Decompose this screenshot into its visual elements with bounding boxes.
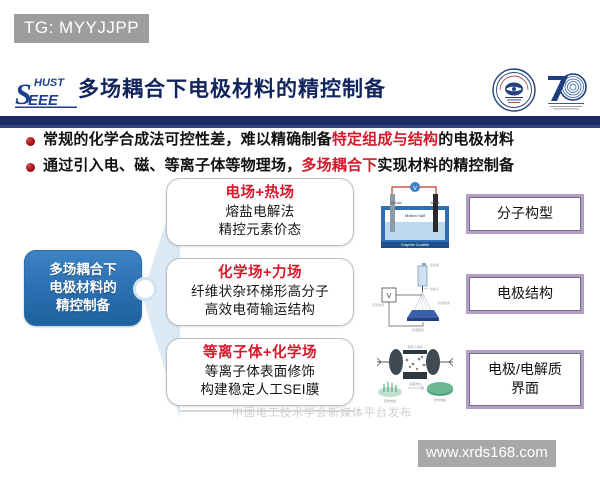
svg-text:Graphite Crucible: Graphite Crucible bbox=[401, 243, 429, 247]
svg-text:EEE: EEE bbox=[28, 92, 59, 108]
root-connector-knob bbox=[133, 277, 157, 301]
svg-text:接收装置: 接收装置 bbox=[412, 327, 424, 332]
svg-text:原始电极: 原始电极 bbox=[384, 398, 396, 403]
branch-1-line-2: 精控元素价态 bbox=[167, 221, 353, 239]
telegram-watermark: TG: MYYJJPP bbox=[14, 14, 149, 43]
branch-3-heading: 等离子体+化学场 bbox=[167, 344, 353, 363]
result-1-label: 分子构型 bbox=[497, 205, 553, 221]
result-3-label-line-1: 电极/电解质 bbox=[469, 360, 581, 379]
page-title: 多场耦合下电极材料的精控制备 bbox=[78, 73, 386, 103]
bullet-segment-2: 的电极材料 bbox=[438, 131, 514, 148]
svg-text:Molten Salt: Molten Salt bbox=[405, 213, 426, 218]
slide-canvas: TG: MYYJJPP S HUST EEE 多场耦合下电极材料的精控制备 bbox=[0, 0, 600, 480]
bullet-item: 常规的化学合成法可控性差，难以精确制备特定组成与结构的电极材料 bbox=[26, 130, 586, 150]
result-box-3: 电极/电解质 界面 bbox=[466, 350, 584, 409]
branch-box-2: 化学场+力场 纤维状杂环梯形高分子 高效电荷输运结构 bbox=[166, 258, 354, 326]
result-box-1: 分子构型 bbox=[466, 194, 584, 234]
branch-1-line-1: 熔盐电解法 bbox=[167, 203, 353, 221]
root-line-3: 精控制备 bbox=[56, 297, 110, 315]
svg-text:Cathode: Cathode bbox=[390, 201, 402, 205]
university-seal-icon bbox=[492, 68, 536, 112]
root-line-2: 电极材料的 bbox=[49, 279, 117, 297]
svg-text:修饰电极: 修饰电极 bbox=[434, 397, 446, 402]
header-logo-group bbox=[492, 66, 590, 114]
branch-2-line-2: 高效电荷输运结构 bbox=[167, 301, 353, 319]
branch-box-3: 等离子体+化学场 等离子体表面修饰 构建稳定人工SEI膜 bbox=[166, 338, 354, 406]
svg-text:高压电源: 高压电源 bbox=[372, 302, 384, 307]
svg-text:V: V bbox=[387, 293, 392, 300]
root-node: 多场耦合下 电极材料的 精控制备 bbox=[24, 250, 142, 326]
70th-anniversary-logo bbox=[542, 68, 590, 112]
svg-text:纺丝射流: 纺丝射流 bbox=[438, 300, 450, 305]
branch-3-line-2: 构建稳定人工SEI膜 bbox=[167, 381, 353, 399]
branch-1-heading: 电场+热场 bbox=[167, 184, 353, 203]
bullet-dot-icon bbox=[26, 163, 35, 172]
header-divider-bar bbox=[0, 116, 600, 125]
branch-2-heading: 化学场+力场 bbox=[167, 264, 353, 283]
bullet-dot-icon bbox=[26, 137, 35, 146]
svg-text:注射泵: 注射泵 bbox=[430, 262, 439, 267]
svg-text:等离子体源: 等离子体源 bbox=[407, 344, 422, 349]
svg-text:喷丝头: 喷丝头 bbox=[430, 286, 439, 291]
molten-salt-electrolysis-cell-image: V Molten Salt Cathode Anode Graphite Cru… bbox=[372, 180, 458, 254]
publisher-watermark: 中国电工技术学会新媒体平台发布 bbox=[232, 404, 412, 420]
bullet-highlight: 特定组成与结构 bbox=[332, 131, 438, 148]
plasma-surface-treatment-image: 等离子体源 表面改性 原始电极 修饰电极 bbox=[372, 340, 458, 404]
svg-text:Anode: Anode bbox=[430, 201, 439, 205]
svg-text:HUST: HUST bbox=[34, 77, 65, 89]
branch-2-line-1: 纤维状杂环梯形高分子 bbox=[167, 283, 353, 301]
svg-text:表面改性: 表面改性 bbox=[409, 381, 421, 386]
branch-3-line-1: 等离子体表面修饰 bbox=[167, 363, 353, 381]
root-line-1: 多场耦合下 bbox=[49, 261, 117, 279]
svg-text:V: V bbox=[413, 186, 417, 192]
result-2-label: 电极结构 bbox=[497, 285, 553, 301]
process-diagram: 多场耦合下 电极材料的 精控制备 电场+热场 熔盐电解法 精控元素价态 bbox=[0, 172, 600, 422]
branch-box-1: 电场+热场 熔盐电解法 精控元素价态 bbox=[166, 178, 354, 246]
bullet-text: 常规的化学合成法可控性差，难以精确制备特定组成与结构的电极材料 bbox=[43, 130, 514, 150]
result-3-label-line-2: 界面 bbox=[469, 379, 581, 398]
result-box-2: 电极结构 bbox=[466, 274, 584, 314]
slide-header: S HUST EEE 多场耦合下电极材料的精控制备 bbox=[0, 62, 600, 118]
site-watermark: www.xrds168.com bbox=[418, 440, 556, 467]
bullet-segment-1: 常规的化学合成法可控性差，难以精确制备 bbox=[43, 131, 332, 148]
electrospinning-setup-image: V 注射泵 喷丝头 纺丝射流 接收装置 高压电源 bbox=[372, 260, 458, 334]
